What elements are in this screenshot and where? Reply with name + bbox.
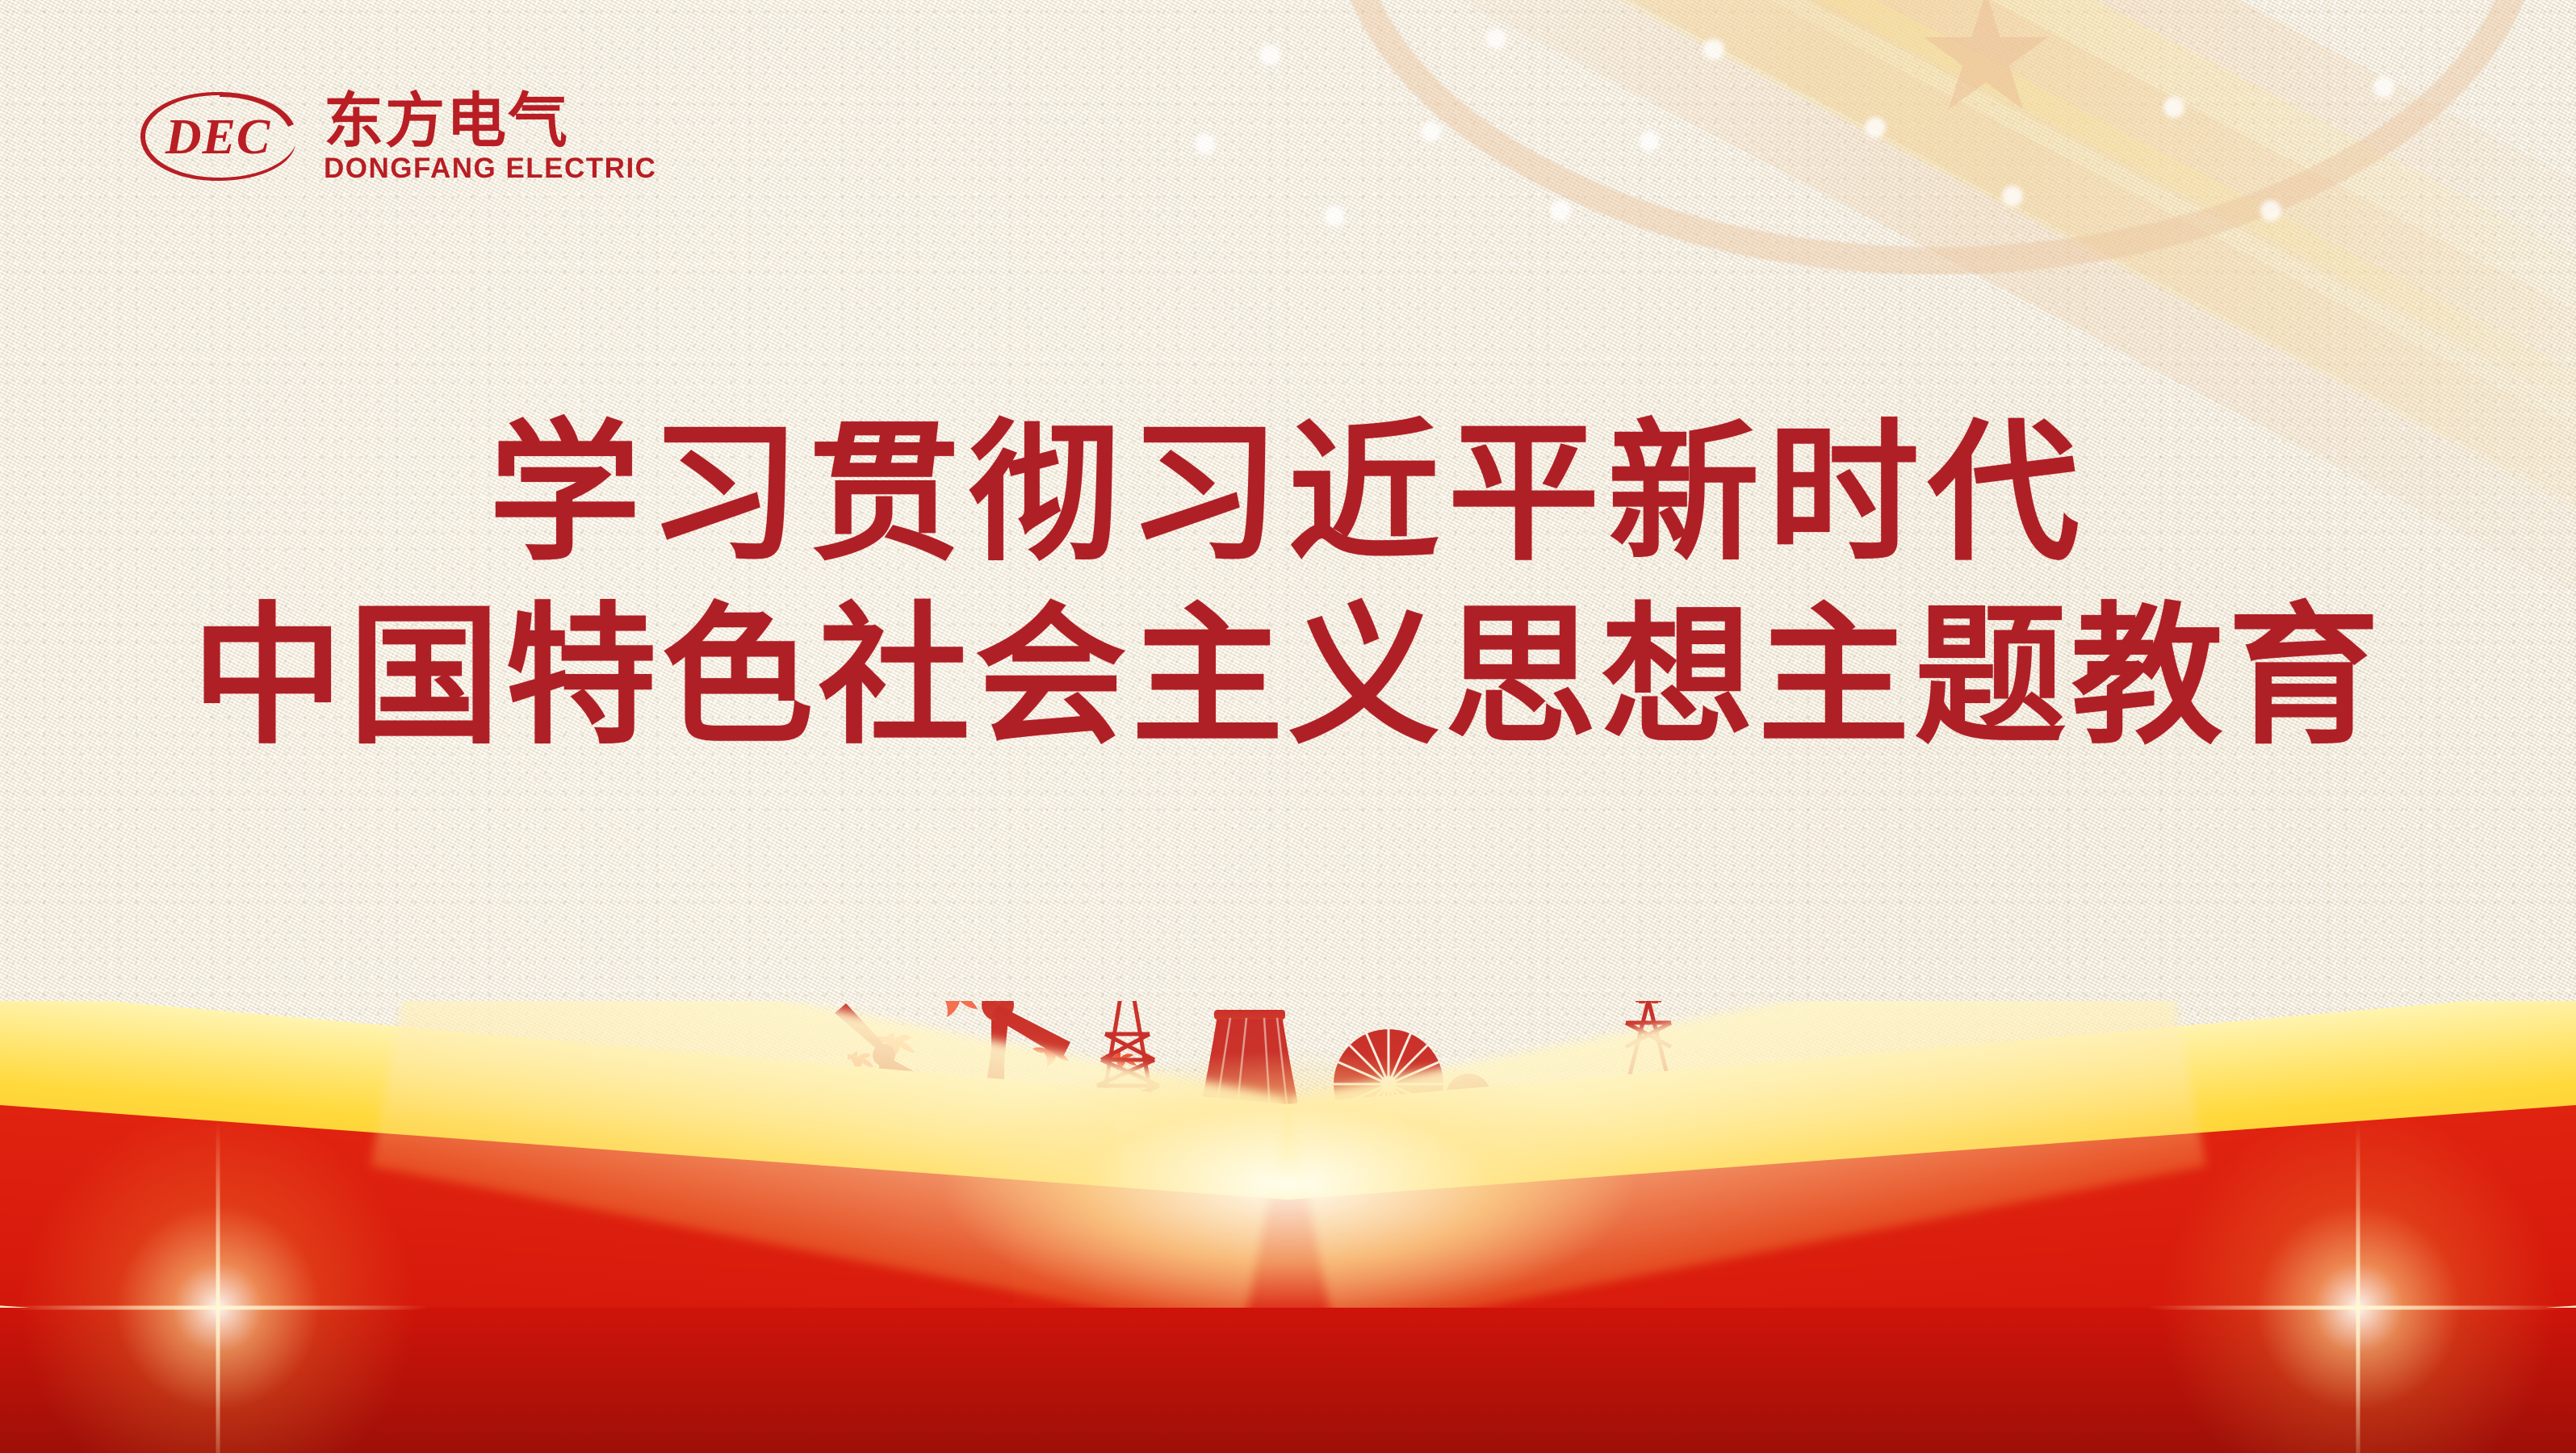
dec-logo-icon: DEC xyxy=(137,89,303,184)
watermark-dot xyxy=(1421,121,1442,142)
ribbon-decoration: H xyxy=(0,1001,2576,1453)
page-title: 学习贯彻习近平新时代 中国特色社会主义思想主题教育 xyxy=(0,412,2576,759)
watermark-dot xyxy=(2373,77,2394,98)
title-line-2: 中国特色社会主义思想主题教育 xyxy=(0,595,2576,759)
watermark-dot xyxy=(2163,97,2184,118)
logo-name-en: DONGFANG ELECTRIC xyxy=(324,154,656,182)
brand-logo: DEC 东方电气 DONGFANG ELECTRIC xyxy=(137,89,656,184)
svg-text:DEC: DEC xyxy=(165,110,270,165)
base-red-band xyxy=(0,1308,2576,1453)
watermark-dot xyxy=(1550,200,1571,221)
watermark-dot xyxy=(1324,206,1345,227)
watermark-dot xyxy=(2260,200,2281,221)
poster-canvas: DEC 东方电气 DONGFANG ELECTRIC 学习贯彻习近平新时代 中国… xyxy=(0,0,2576,1453)
title-line-1: 学习贯彻习近平新时代 xyxy=(0,412,2576,576)
watermark-dot xyxy=(2002,186,2023,207)
watermark-dot xyxy=(1259,44,1280,65)
watermark-dot xyxy=(1485,28,1506,49)
watermark-dot xyxy=(1865,117,1886,138)
logo-wordmark: 东方电气 DONGFANG ELECTRIC xyxy=(324,91,656,182)
logo-name-cn: 东方电气 xyxy=(324,91,656,151)
watermark-dot xyxy=(1703,39,1724,60)
watermark-dot xyxy=(1195,133,1216,154)
watermark-dot xyxy=(1639,131,1660,152)
